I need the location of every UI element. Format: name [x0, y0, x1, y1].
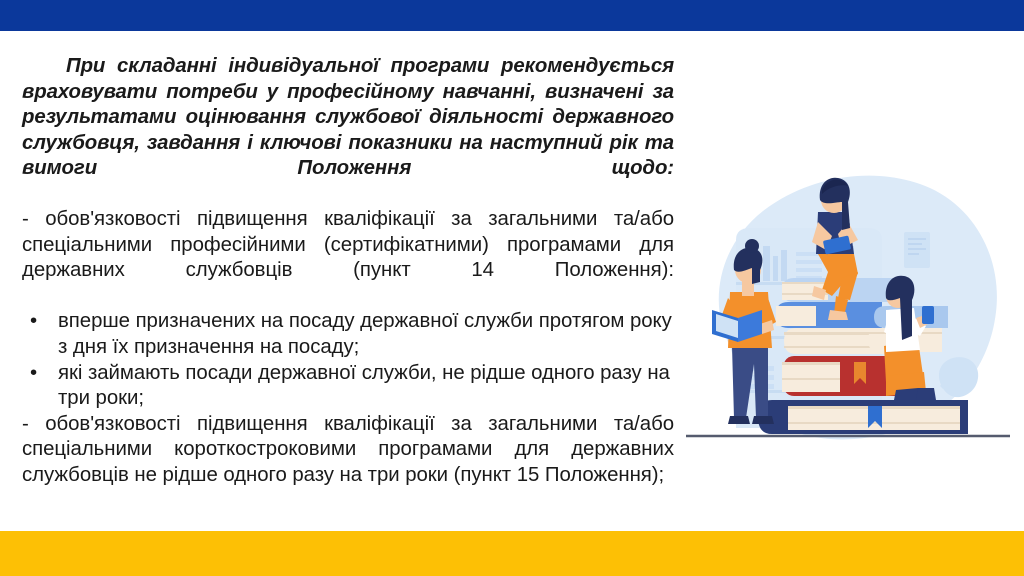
lead-paragraph: При складанні індивідуальної програми ре… — [22, 54, 674, 207]
people-reading-books-illustration — [672, 150, 1016, 450]
book-navy-bottom — [758, 400, 968, 434]
list-item-label: вперше призначених на посаду державної с… — [58, 310, 672, 358]
list-item: • вперше призначених на посаду державної… — [22, 309, 674, 360]
top-accent-bar — [0, 0, 1024, 31]
slide-text-content: При складанні індивідуальної програми ре… — [22, 54, 674, 489]
requirements-bullet-list: • вперше призначених на посаду державної… — [22, 309, 674, 411]
list-item-label: які займають посади державної служби, не… — [58, 362, 670, 410]
bullet-marker-icon: • — [30, 361, 37, 387]
bullet-marker-icon: • — [30, 309, 37, 335]
bottom-accent-bar — [0, 531, 1024, 576]
list-item: • які займають посади державної служби, … — [22, 361, 674, 412]
requirement-second-paragraph: - обов'язковості підвищення кваліфікації… — [22, 412, 674, 489]
requirement-first-paragraph: - обов'язковості підвищення кваліфікації… — [22, 207, 674, 309]
